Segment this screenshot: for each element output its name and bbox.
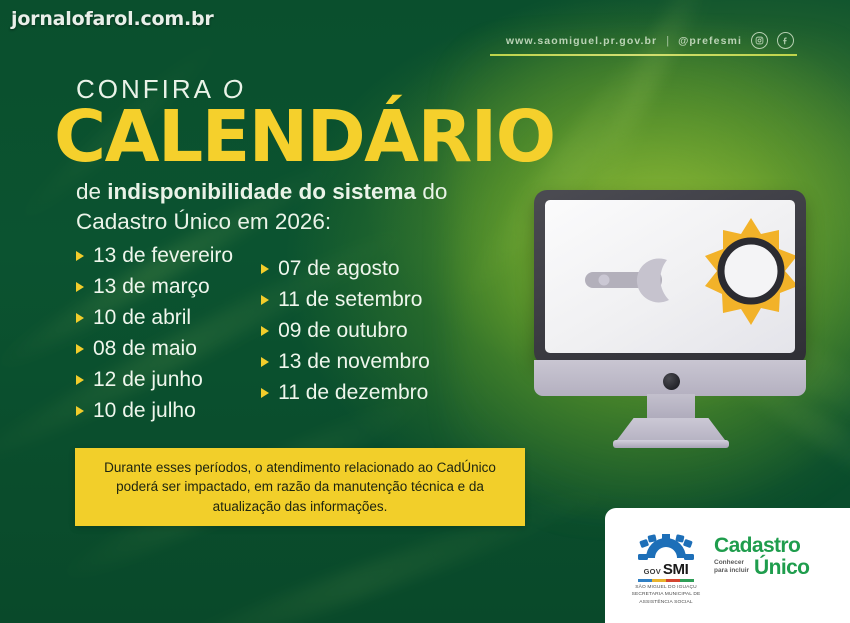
wrench-icon bbox=[585, 252, 720, 308]
notice-text: Durante esses períodos, o atendimento re… bbox=[75, 458, 525, 517]
list-item: 07 de agosto bbox=[261, 253, 430, 284]
list-item: 08 de maio bbox=[76, 333, 233, 364]
list-item: 12 de junho bbox=[76, 364, 233, 395]
cadastro-row: Conhecer para incluir Único bbox=[714, 557, 809, 578]
subtitle-pre: de bbox=[76, 179, 107, 204]
monitor-power-dot bbox=[663, 373, 680, 390]
list-item: 13 de novembro bbox=[261, 346, 430, 377]
notice-box: Durante esses períodos, o atendimento re… bbox=[75, 448, 525, 526]
date-label: 13 de fevereiro bbox=[93, 244, 233, 268]
date-label: 10 de abril bbox=[93, 306, 191, 330]
subtitle-bold: indisponibilidade do sistema bbox=[107, 179, 416, 204]
list-item: 13 de março bbox=[76, 271, 233, 302]
header-separator: | bbox=[666, 35, 669, 47]
date-label: 07 de agosto bbox=[278, 257, 399, 281]
list-item: 09 de outubro bbox=[261, 315, 430, 346]
facebook-icon[interactable] bbox=[777, 32, 794, 49]
list-item: 11 de setembro bbox=[261, 284, 430, 315]
site-watermark: jornalofarol.com.br bbox=[11, 8, 214, 30]
cadastro-line1: Cadastro bbox=[714, 535, 809, 556]
smi-gov-label: GOV bbox=[644, 567, 661, 576]
smi-subtitle: SÃO MIGUEL DO IGUAÇU SECRETARIA MUNICIPA… bbox=[619, 584, 714, 606]
smi-wordmark: GOV SMI bbox=[644, 561, 689, 578]
date-label: 11 de dezembro bbox=[278, 381, 428, 405]
date-label: 08 de maio bbox=[93, 337, 197, 361]
smi-gear-icon bbox=[638, 534, 694, 560]
list-item: 11 de dezembro bbox=[261, 377, 430, 408]
date-list: 13 de fevereiro 13 de março 10 de abril … bbox=[76, 240, 430, 426]
monitor-bezel bbox=[534, 190, 806, 365]
bullet-arrow-icon bbox=[261, 388, 269, 398]
cadastro-tagline-line2: para incluir bbox=[714, 567, 749, 574]
date-label: 09 de outubro bbox=[278, 319, 408, 343]
date-column-right: 07 de agosto 11 de setembro 09 de outubr… bbox=[261, 240, 430, 426]
smi-logo: GOV SMI SÃO MIGUEL DO IGUAÇU SECRETARIA … bbox=[629, 534, 703, 600]
bullet-arrow-icon bbox=[261, 357, 269, 367]
monitor-screen bbox=[545, 200, 795, 353]
headline-block: CONFIRA O CALENDÁRIO de indisponibilidad… bbox=[76, 74, 546, 237]
bullet-arrow-icon bbox=[261, 295, 269, 305]
bullet-arrow-icon bbox=[76, 406, 84, 416]
date-label: 12 de junho bbox=[93, 368, 203, 392]
list-item: 10 de julho bbox=[76, 395, 233, 426]
header-website-url: www.saomiguel.pr.gov.br bbox=[506, 35, 657, 47]
list-item: 13 de fevereiro bbox=[76, 240, 233, 271]
bullet-arrow-icon bbox=[76, 251, 84, 261]
headline-subtitle: de indisponibilidade do sistema do Cadas… bbox=[76, 177, 546, 236]
monitor-illustration bbox=[516, 190, 826, 460]
date-label: 13 de novembro bbox=[278, 350, 430, 374]
subtitle-line2: Cadastro Único em 2026: bbox=[76, 209, 331, 234]
bullet-arrow-icon bbox=[76, 344, 84, 354]
header-contact-bar: www.saomiguel.pr.gov.br | @prefesmi bbox=[506, 32, 794, 49]
date-label: 13 de março bbox=[93, 275, 210, 299]
cadastro-line2: Único bbox=[754, 557, 809, 578]
monitor-neck bbox=[647, 394, 695, 420]
smi-abbr-label: SMI bbox=[663, 561, 688, 578]
cadastro-tagline-line1: Conhecer bbox=[714, 559, 744, 566]
bullet-arrow-icon bbox=[76, 375, 84, 385]
cadastro-tagline: Conhecer para incluir bbox=[714, 559, 749, 578]
bullet-arrow-icon bbox=[76, 313, 84, 323]
bullet-arrow-icon bbox=[76, 282, 84, 292]
monitor-base-lip bbox=[613, 440, 729, 448]
cadastro-unico-logo: Cadastro Conhecer para incluir Único bbox=[714, 534, 809, 578]
bullet-arrow-icon bbox=[261, 264, 269, 274]
date-column-left: 13 de fevereiro 13 de março 10 de abril … bbox=[76, 240, 233, 426]
header-social-handle: @prefesmi bbox=[678, 35, 742, 47]
page-title: CALENDÁRIO bbox=[54, 103, 546, 170]
date-label: 11 de setembro bbox=[278, 288, 422, 312]
poster-canvas: jornalofarol.com.br www.saomiguel.pr.gov… bbox=[0, 0, 850, 623]
subtitle-post: do bbox=[416, 179, 447, 204]
instagram-icon[interactable] bbox=[751, 32, 768, 49]
list-item: 10 de abril bbox=[76, 302, 233, 333]
logo-card: GOV SMI SÃO MIGUEL DO IGUAÇU SECRETARIA … bbox=[605, 508, 850, 623]
date-label: 10 de julho bbox=[93, 399, 196, 423]
bullet-arrow-icon bbox=[261, 326, 269, 336]
smi-flag-stripe bbox=[638, 579, 694, 582]
header-divider bbox=[490, 54, 797, 56]
